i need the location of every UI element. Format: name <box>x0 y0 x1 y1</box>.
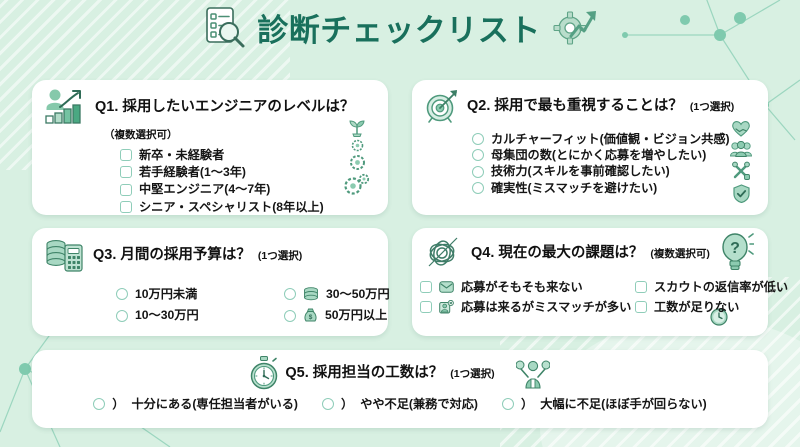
q2-option-0-label: カルチャーフィット(価値観・ビジョン共感) <box>491 133 730 145</box>
q2-question-text: 採用で最も重視することは？ <box>494 98 683 114</box>
q2-option-1-label: 母集団の数(とにかく応募を増やしたい) <box>491 149 706 161</box>
person-juggling-icon <box>516 357 550 389</box>
q3-note: (1つ選択) <box>258 248 302 263</box>
q1-option-0[interactable]: 新卒・未経験者 <box>120 149 388 161</box>
checkbox-icon[interactable] <box>120 184 132 196</box>
tangled-knot-icon <box>424 236 464 270</box>
q5-number: Q5. <box>285 365 308 381</box>
q1-option-1-label: 若手経験者(1〜3年) <box>139 166 246 178</box>
q5-header: Q5. 採用担当の工数は？ (1つ選択) <box>32 350 768 390</box>
q1-title: Q1. 採用したいエンジニアのレベルは？ <box>95 99 354 116</box>
checkbox-icon[interactable] <box>635 281 647 293</box>
checkbox-icon[interactable] <box>635 301 647 313</box>
q2-options: カルチャーフィット(価値観・ビジョン共感) 母集団の数(とにかく応募を増やしたい… <box>412 130 768 194</box>
q1-option-3-label: シニア・スペシャリスト(8年以上) <box>139 201 324 213</box>
q1-option-2-label: 中堅エンジニア(4〜7年) <box>139 183 270 195</box>
q4-option-0[interactable]: 応募がそもそも来ない <box>420 281 635 293</box>
mail-icon <box>439 281 454 293</box>
q2-option-3[interactable]: 確実性(ミスマッチを避けたい) <box>472 182 768 194</box>
coin-stack-icon <box>303 287 319 301</box>
q4-option-2[interactable]: 応募は来るがミスマッチが多い <box>420 300 635 314</box>
checkbox-icon[interactable] <box>120 166 132 178</box>
lightbulb-question-icon: ? <box>720 232 754 272</box>
radio-icon[interactable] <box>472 166 484 178</box>
q1-number: Q1. <box>95 99 118 115</box>
person-growth-chart-icon <box>44 88 88 126</box>
radio-icon[interactable] <box>116 310 128 322</box>
radio-icon[interactable] <box>116 288 128 300</box>
q5-note: (1つ選択) <box>450 366 494 381</box>
q4-note: (複数選択可) <box>650 246 710 261</box>
checkbox-icon[interactable] <box>420 301 432 313</box>
q4-option-1[interactable]: スカウトの返信率が低い <box>635 281 775 293</box>
question-card-q2: Q2. 採用で最も重視することは？ (1つ選択) カルチャーフィット(価値観・ビ… <box>412 80 768 215</box>
q2-option-2[interactable]: 技術力(スキルを事前確認したい) <box>472 165 768 177</box>
question-card-q3: Q3. 月間の採用予算は？ (1つ選択) 10万円未満 <box>32 228 388 336</box>
q5-question-text: 採用担当の工数は？ <box>313 365 444 381</box>
q2-note: (1つ選択) <box>690 99 734 114</box>
radio-icon[interactable] <box>284 310 296 322</box>
money-bag-icon: $ <box>303 308 318 323</box>
q3-option-1-label: 30〜50万円 <box>326 288 390 300</box>
q1-note: （複数選択可） <box>32 127 388 142</box>
q2-option-2-label: 技術力(スキルを事前確認したい) <box>491 165 670 177</box>
q5-option-1-label: やや不足(兼務で対応) <box>360 398 478 410</box>
q4-header: Q4. 現在の最大の課題は？ (複数選択可) <box>412 228 768 270</box>
q3-question-text: 月間の採用予算は？ <box>120 247 251 263</box>
q5-option-0[interactable]: ） 十分にある(専任担当者がいる) <box>93 398 298 410</box>
radio-icon[interactable] <box>472 133 484 145</box>
question-card-q5: Q5. 採用担当の工数は？ (1つ選択) ） 十分にある(専任担当者がいる) <box>32 350 768 428</box>
q4-option-2-label: 応募は来るがミスマッチが多い <box>461 301 631 313</box>
mismatch-person-icon <box>439 300 454 314</box>
q3-number: Q3. <box>93 247 116 263</box>
q3-option-2-label: 10〜30万円 <box>135 309 199 321</box>
q1-option-1[interactable]: 若手経験者(1〜3年) <box>120 166 388 178</box>
q1-option-3[interactable]: シニア・スペシャリスト(8年以上) <box>120 201 388 213</box>
q3-option-3-label: 50万円以上 <box>325 309 387 321</box>
q1-question-text: 採用したいエンジニアのレベルは？ <box>122 99 354 115</box>
q5-title: Q5. 採用担当の工数は？ <box>285 365 443 382</box>
radio-icon[interactable] <box>472 149 484 161</box>
q4-question-text: 現在の最大の課題は？ <box>498 245 643 261</box>
q3-options: 10万円未満 30〜50万円 10〜30万円 <box>32 284 388 323</box>
q5-option-2-paren: ） <box>521 398 533 410</box>
q2-number: Q2. <box>467 98 490 114</box>
gear-growth-arrow-icon <box>551 4 599 50</box>
q2-option-1[interactable]: 母集団の数(とにかく応募を増やしたい) <box>472 149 768 161</box>
q3-option-2[interactable]: 10〜30万円 <box>116 308 284 323</box>
q4-option-0-label: 応募がそもそも来ない <box>461 281 583 293</box>
question-card-q4: Q4. 現在の最大の課題は？ (複数選択可) ? <box>412 228 768 336</box>
q4-option-1-label: スカウトの返信率が低い <box>654 281 788 293</box>
q5-option-2-label: 大幅に不足(ほぼ手が回らない) <box>540 398 707 410</box>
sprout-icon <box>347 118 367 137</box>
target-arrow-icon <box>424 88 460 124</box>
coins-calculator-icon <box>44 236 86 274</box>
q5-option-0-label: 十分にある(専任担当者がいる) <box>131 398 298 410</box>
stopwatch-icon <box>250 356 278 390</box>
svg-text:?: ? <box>730 240 740 257</box>
svg-text:$: $ <box>309 314 313 321</box>
radio-icon[interactable] <box>502 398 514 410</box>
q4-title: Q4. 現在の最大の課題は？ <box>471 245 643 262</box>
q3-option-0[interactable]: 10万円未満 <box>116 287 284 301</box>
q1-option-2[interactable]: 中堅エンジニア(4〜7年) <box>120 183 388 195</box>
q4-number: Q4. <box>471 245 494 261</box>
checkbox-icon[interactable] <box>420 281 432 293</box>
q4-options: 応募がそもそも来ない スカウトの返信率が低い 応募は来るがミスマッチが多い <box>412 278 768 314</box>
q1-header: Q1. 採用したいエンジニアのレベルは？ <box>32 80 388 126</box>
radio-icon[interactable] <box>284 288 296 300</box>
q5-option-1[interactable]: ） やや不足(兼務で対応) <box>322 398 478 410</box>
page-title: 診断チェックリスト <box>257 5 541 50</box>
q2-header: Q2. 採用で最も重視することは？ (1つ選択) <box>412 80 768 124</box>
q2-title: Q2. 採用で最も重視することは？ <box>467 98 683 115</box>
radio-icon[interactable] <box>322 398 334 410</box>
q4-option-3[interactable]: 工数が足りない <box>635 300 775 314</box>
radio-icon[interactable] <box>472 182 484 194</box>
q3-header: Q3. 月間の採用予算は？ (1つ選択) <box>32 228 388 274</box>
q5-option-2[interactable]: ） 大幅に不足(ほぼ手が回らない) <box>502 398 707 410</box>
q5-option-1-paren: ） <box>341 398 353 410</box>
q1-options: 新卒・未経験者 若手経験者(1〜3年) 中堅エンジニア(4〜7年) シニア・スペ… <box>32 146 388 213</box>
question-card-q1: Q1. 採用したいエンジニアのレベルは？ （複数選択可） 新卒・未経験者 若手経… <box>32 80 388 215</box>
q5-options: ） 十分にある(専任担当者がいる) ） やや不足(兼務で対応) ） 大幅に不足(… <box>32 398 768 410</box>
checklist-magnifier-icon <box>201 4 247 50</box>
checkbox-icon[interactable] <box>120 201 132 213</box>
checkbox-icon[interactable] <box>120 149 132 161</box>
q5-option-0-paren: ） <box>112 398 124 410</box>
radio-icon[interactable] <box>93 398 105 410</box>
q4-option-3-label: 工数が足りない <box>654 301 739 313</box>
page-header: 診断チェックリスト <box>0 4 800 50</box>
q2-option-3-label: 確実性(ミスマッチを避けたい) <box>491 182 657 194</box>
q1-option-0-label: 新卒・未経験者 <box>139 149 224 161</box>
q3-option-0-label: 10万円未満 <box>135 288 197 300</box>
checklist-page: 診断チェックリスト <box>0 0 800 447</box>
q2-option-0[interactable]: カルチャーフィット(価値観・ビジョン共感) <box>472 133 768 145</box>
q3-title: Q3. 月間の採用予算は？ <box>93 247 251 264</box>
